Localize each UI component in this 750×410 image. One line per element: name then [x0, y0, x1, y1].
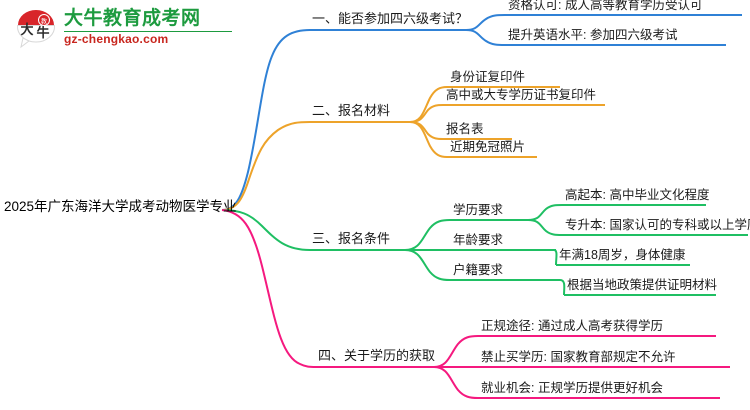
mindmap-page: 大 牛 教 大牛教育成考网 gz-chengkao.com: [0, 0, 750, 410]
branch-1-child-2[interactable]: 提升英语水平: 参加四六级考试: [508, 27, 677, 43]
branch-1-child-1[interactable]: 资格认可: 成人高等教育学历受认可: [508, 0, 702, 13]
branch-3-child-1-leaf-2[interactable]: 专升本: 国家认可的专科或以上学历: [565, 217, 750, 233]
mindmap-root-node[interactable]: 2025年广东海洋大学成考动物医学专业: [4, 199, 237, 215]
branch-2-child-4[interactable]: 近期免冠照片: [450, 139, 525, 155]
branch-3-child-2[interactable]: 年龄要求: [453, 232, 503, 248]
branch-3-child-2-leaf-1[interactable]: 年满18周岁，身体健康: [559, 247, 685, 263]
branch-4-title[interactable]: 四、关于学历的获取: [318, 348, 435, 364]
branch-3-child-3[interactable]: 户籍要求: [453, 262, 503, 278]
branch-3-child-1[interactable]: 学历要求: [453, 202, 503, 218]
branch-3-child-1-leaf-1[interactable]: 高起本: 高中毕业文化程度: [565, 187, 709, 203]
branch-2-child-3[interactable]: 报名表: [446, 121, 484, 137]
branch-2-child-1[interactable]: 身份证复印件: [450, 69, 525, 85]
branch-3-child-3-leaf-1[interactable]: 根据当地政策提供证明材料: [567, 277, 717, 293]
branch-2-child-2[interactable]: 高中或大专学历证书复印件: [446, 87, 596, 103]
branch-1-title[interactable]: 一、能否参加四六级考试？: [312, 11, 468, 27]
branch-4-child-3[interactable]: 就业机会: 正规学历提供更好机会: [481, 380, 663, 396]
branch-1-edges: [222, 15, 742, 210]
branch-4-child-2[interactable]: 禁止买学历: 国家教育部规定不允许: [481, 349, 675, 365]
branch-2-title[interactable]: 二、报名材料: [312, 103, 390, 119]
branch-3-title[interactable]: 三、报名条件: [312, 231, 390, 247]
branch-4-child-1[interactable]: 正规途径: 通过成人高考获得学历: [481, 318, 663, 334]
branch-2-edges: [222, 87, 605, 210]
